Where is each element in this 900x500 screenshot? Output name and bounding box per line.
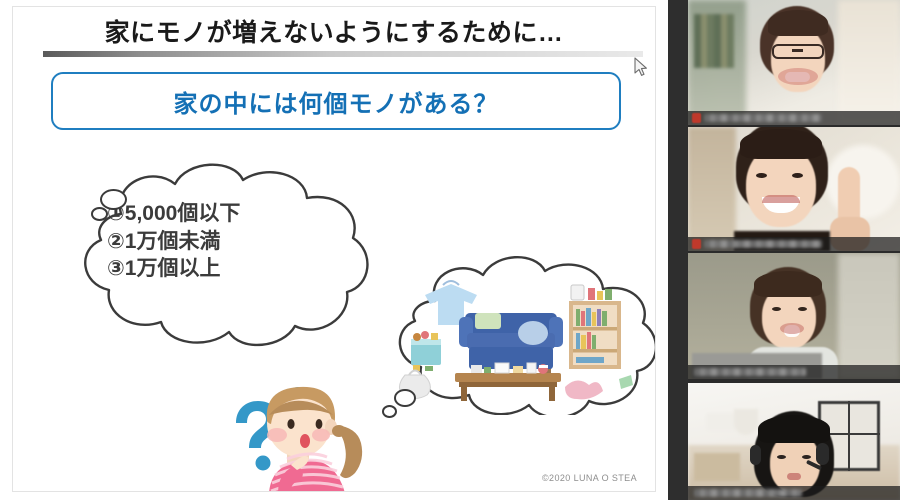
participant-tile-2[interactable]	[688, 127, 900, 251]
panel-divider	[668, 0, 688, 500]
answer-option-1: ①5,000個以下	[107, 200, 357, 228]
slide-title: 家にモノが増えないようにするために…	[13, 13, 655, 49]
participant-tile-4[interactable]	[688, 383, 900, 500]
question-callout-box: 家の中には何個モノがある？	[51, 72, 621, 130]
participant-name-redacted-3	[694, 368, 806, 376]
screen-share-meeting-window: 家にモノが増えないようにするために… 家の中には何個モノがある？ ①5,000個…	[0, 0, 900, 500]
participant-name-bar-2	[688, 237, 900, 251]
slide-frame: 家にモノが増えないようにするために… 家の中には何個モノがある？ ①5,000個…	[12, 6, 656, 492]
mic-muted-icon-1	[692, 113, 701, 123]
room-cloud-tail-large	[394, 389, 416, 407]
answer-option-2: ②1万個未満	[107, 228, 357, 256]
copyright-notice: ©2020 LUNA O STEA	[542, 473, 637, 483]
participant-name-bar-4	[688, 486, 900, 500]
mic-muted-icon-2	[692, 239, 701, 249]
participant-name-redacted-2	[704, 240, 822, 248]
participant-name-bar-1	[688, 111, 900, 125]
video-feed-3	[688, 253, 900, 379]
answers-cloud-tail-large	[100, 189, 127, 210]
question-text: 家の中には何個モノがある？	[174, 84, 499, 119]
participant-name-redacted-4	[694, 489, 802, 497]
shared-slide-area[interactable]: 家にモノが増えないようにするために… 家の中には何個モノがある？ ①5,000個…	[0, 0, 668, 500]
participant-tile-3[interactable]	[688, 253, 900, 379]
answer-options-list: ①5,000個以下 ②1万個未満 ③1万個以上	[107, 200, 357, 283]
title-divider-rule	[43, 51, 643, 57]
participant-tile-1[interactable]	[688, 0, 900, 125]
video-feed-2	[688, 127, 900, 251]
room-thought-cloud	[383, 255, 656, 415]
answer-option-3: ③1万個以上	[107, 255, 357, 283]
participant-name-redacted-1	[704, 114, 822, 122]
thinking-girl-illustration	[235, 379, 395, 492]
answers-cloud-tail-small	[91, 207, 108, 221]
participant-video-strip[interactable]	[688, 0, 900, 500]
video-feed-4	[688, 383, 900, 500]
participant-name-bar-3	[688, 365, 900, 379]
video-feed-1	[688, 0, 900, 125]
